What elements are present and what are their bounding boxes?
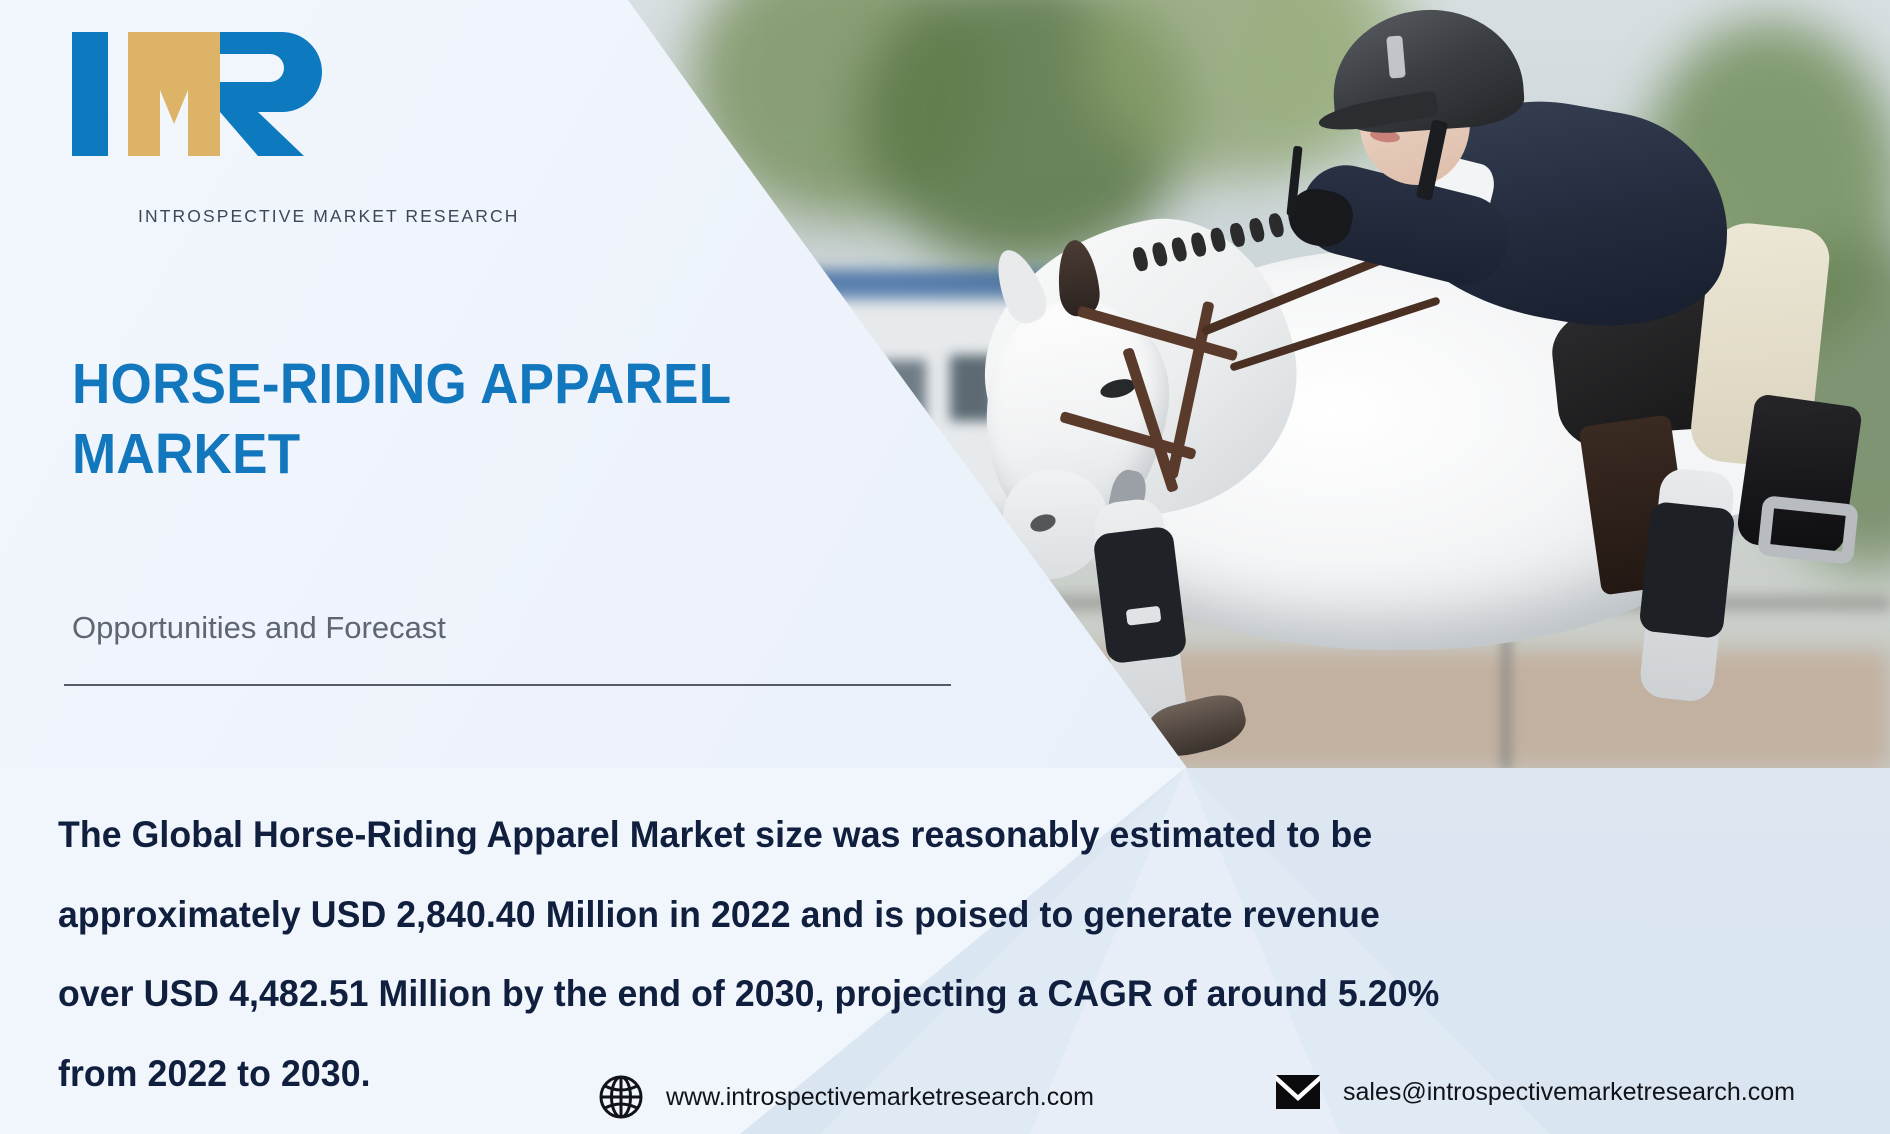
- footer-email[interactable]: sales@introspectivemarketresearch.com: [1275, 1074, 1795, 1110]
- title-line-1: HORSE-RIDING APPAREL: [72, 350, 742, 420]
- title-line-2: MARKET: [72, 420, 742, 490]
- market-report-cover: INTROSPECTIVE MARKET RESEARCH HORSE-RIDI…: [0, 0, 1890, 1134]
- imr-logo-mark: [70, 28, 370, 160]
- summary-line-2: approximately USD 2,840.40 Million in 20…: [58, 875, 1588, 955]
- footer-website[interactable]: www.introspectivemarketresearch.com: [598, 1074, 1094, 1120]
- horse-hind-boot: [1638, 501, 1735, 639]
- summary-line-1: The Global Horse-Riding Apparel Market s…: [58, 795, 1588, 875]
- horse-leg-boot: [1092, 526, 1187, 665]
- market-summary-text: The Global Horse-Riding Apparel Market s…: [58, 795, 1588, 1113]
- email-address: sales@introspectivemarketresearch.com: [1343, 1078, 1795, 1107]
- stirrup: [1757, 495, 1859, 565]
- envelope-icon: [1275, 1074, 1321, 1110]
- footer: www.introspectivemarketresearch.com sale…: [0, 1068, 1890, 1134]
- website-url: www.introspectivemarketresearch.com: [666, 1083, 1094, 1112]
- title-divider: [64, 684, 951, 686]
- summary-line-3: over USD 4,482.51 Million by the end of …: [58, 954, 1588, 1034]
- imr-logo[interactable]: INTROSPECTIVE MARKET RESEARCH: [70, 28, 380, 203]
- page-subtitle: Opportunities and Forecast: [72, 610, 446, 646]
- page-title: HORSE-RIDING APPAREL MARKET: [72, 350, 742, 489]
- globe-icon: [598, 1074, 644, 1120]
- logo-tagline: INTROSPECTIVE MARKET RESEARCH: [138, 206, 519, 227]
